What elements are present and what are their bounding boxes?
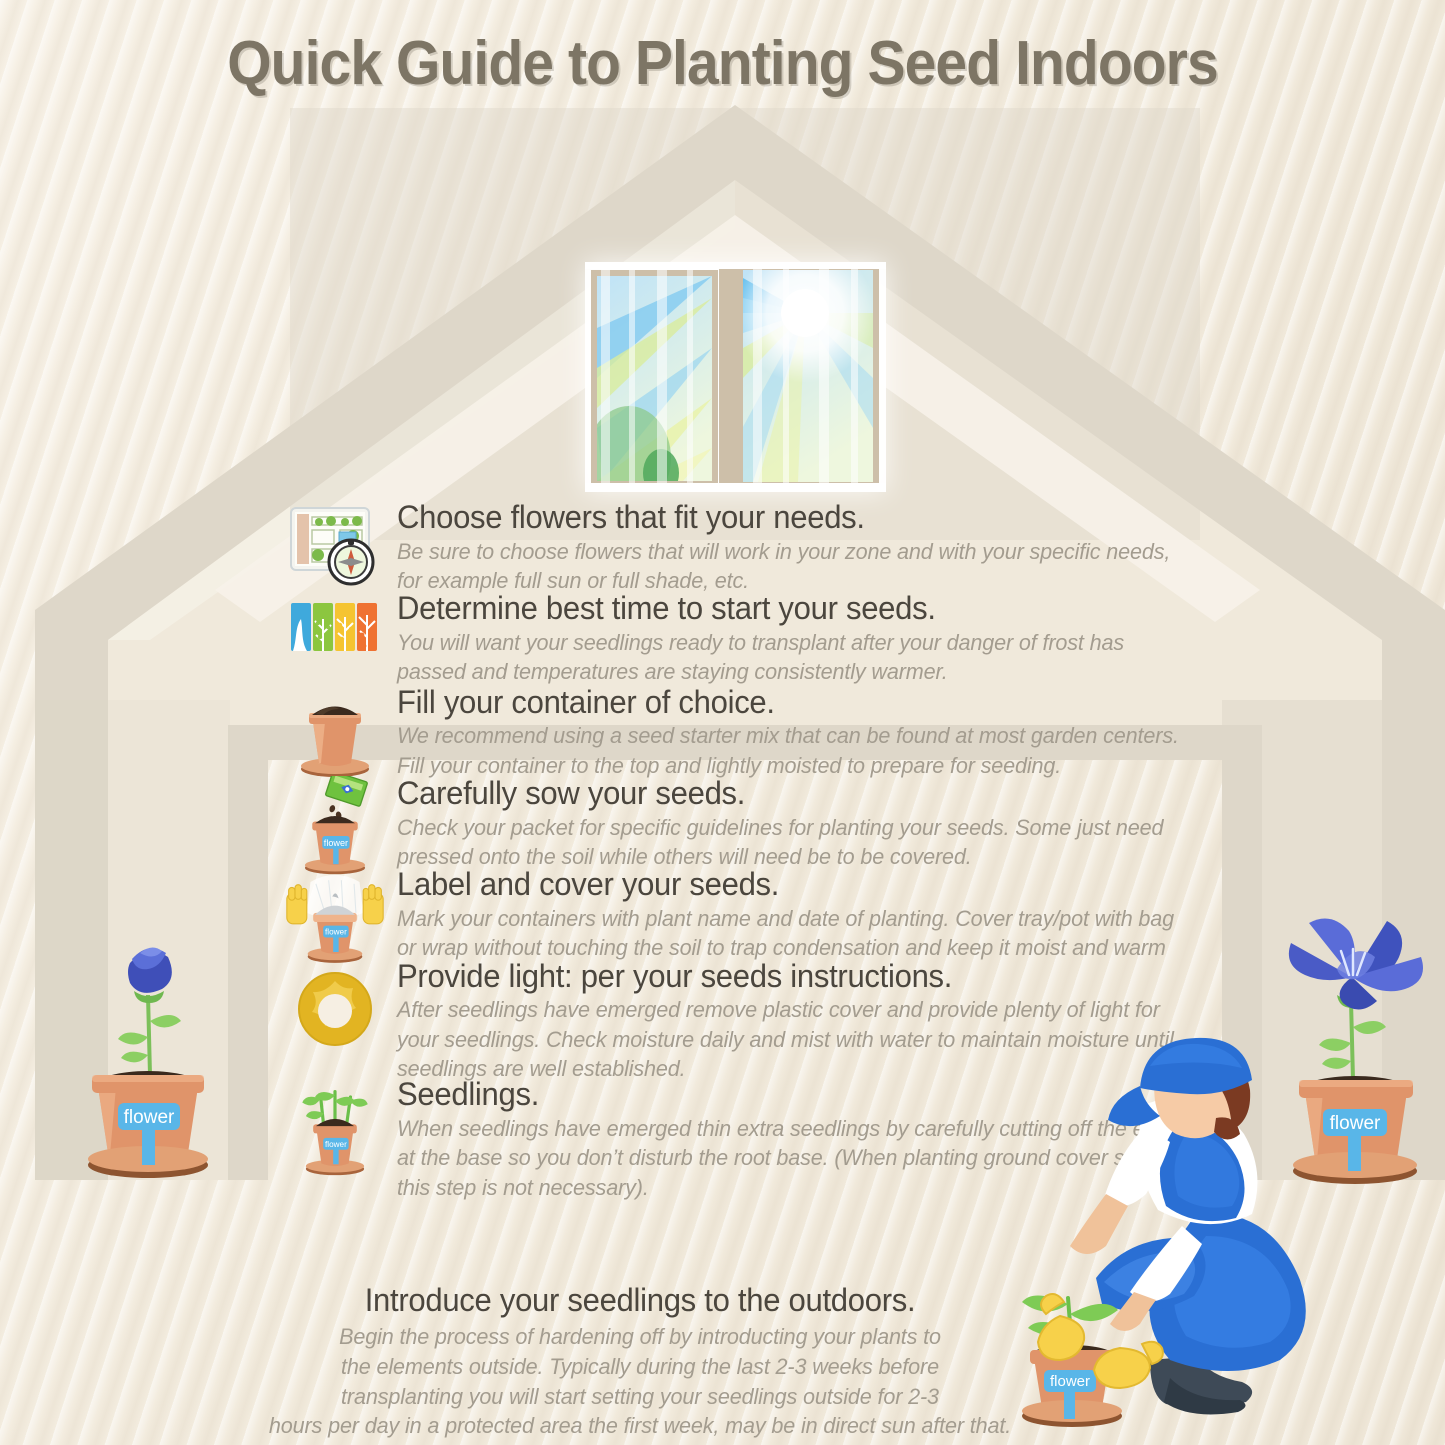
outro-body: Begin the process of hardening off by in… (256, 1322, 1024, 1441)
outro-line: the elements outside. Typically during t… (256, 1352, 1024, 1382)
seed-packet-pouring-icon: flower (285, 776, 385, 876)
sunny-window-illustration (583, 258, 888, 508)
step-text: Determine best time to start your seeds.… (397, 591, 1215, 686)
outro-line: hours per day in a protected area the fi… (256, 1411, 1024, 1441)
outro-line: transplanting you will start setting you… (256, 1382, 1024, 1412)
step-body: Mark your containers with plant name and… (397, 904, 1182, 963)
step-body: Be sure to choose flowers that will work… (397, 537, 1182, 596)
sun-light-icon (285, 959, 385, 1059)
outro-line: Begin the process of hardening off by in… (256, 1322, 1024, 1352)
step-heading: Label and cover your seeds. (397, 867, 1190, 903)
blue-rosebud-potted-plant: flower (68, 925, 228, 1185)
svg-text:flower: flower (1050, 1373, 1090, 1390)
garden-plan-compass-icon (285, 500, 385, 600)
step-item: Fill your container of choice. We recomm… (285, 685, 1215, 780)
step-heading: Choose flowers that fit your needs. (397, 500, 1190, 536)
step-item: Determine best time to start your seeds.… (285, 591, 1215, 686)
step-heading: Provide light: per your seeds instructio… (397, 959, 1190, 995)
step-text: Choose flowers that fit your needs. Be s… (397, 500, 1215, 595)
infographic-canvas: Quick Guide to Planting Seed Indoors (0, 0, 1445, 1445)
filled-pot-icon (285, 685, 385, 785)
step-item: flower Carefully sow your seeds. Check y… (285, 776, 1215, 871)
step-item: flower Label and cover your seeds. Mark … (285, 867, 1215, 962)
step-text: Fill your container of choice. We recomm… (397, 685, 1215, 780)
step-text: Carefully sow your seeds. Check your pac… (397, 776, 1215, 871)
svg-text:flower: flower (324, 838, 348, 848)
svg-text:flower: flower (325, 1140, 347, 1149)
step-heading: Determine best time to start your seeds. (397, 591, 1190, 627)
outro-block: Introduce your seedlings to the outdoors… (240, 1283, 1040, 1441)
step-heading: Fill your container of choice. (397, 685, 1190, 721)
step-body: Check your packet for specific guideline… (397, 813, 1182, 872)
step-body: We recommend using a seed starter mix th… (397, 721, 1182, 780)
gloves-covering-pot-icon: flower (285, 867, 385, 967)
seedlings-pot-icon: flower (285, 1077, 385, 1177)
step-heading: Carefully sow your seeds. (397, 776, 1190, 812)
svg-text:flower: flower (325, 928, 347, 937)
svg-text:flower: flower (124, 1107, 175, 1128)
kneeling-gardener-illustration: flower (1000, 1030, 1345, 1430)
step-item: Choose flowers that fit your needs. Be s… (285, 500, 1215, 595)
four-seasons-icon (285, 591, 385, 691)
step-body: You will want your seedlings ready to tr… (397, 628, 1182, 687)
outro-heading: Introduce your seedlings to the outdoors… (252, 1283, 1028, 1318)
step-text: Label and cover your seeds. Mark your co… (397, 867, 1215, 962)
page-title: Quick Guide to Planting Seed Indoors (58, 28, 1387, 99)
